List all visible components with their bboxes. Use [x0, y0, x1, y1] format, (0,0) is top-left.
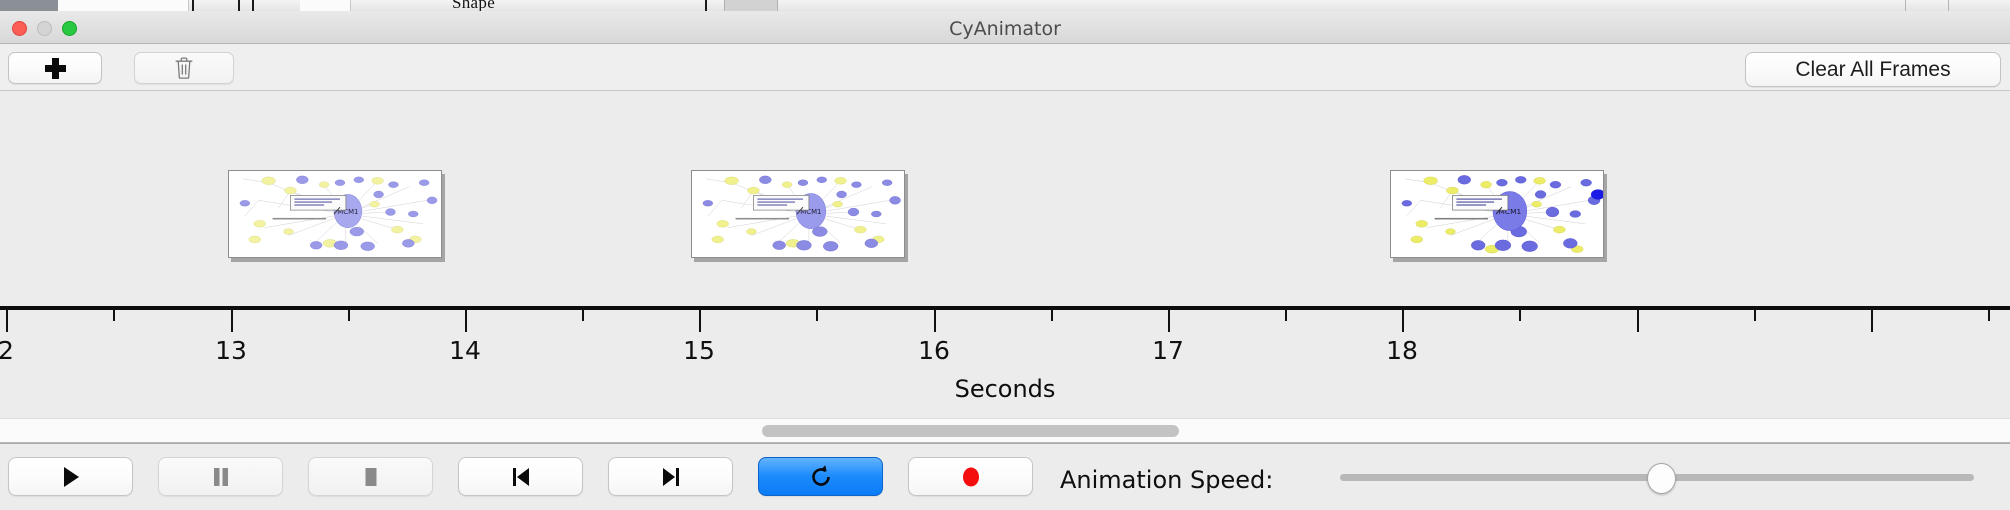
- axis-tick-minor: [1051, 310, 1053, 321]
- animation-speed-label: Animation Speed:: [1060, 466, 1273, 494]
- delete-frame-button[interactable]: [134, 52, 234, 84]
- window-title: CyAnimator: [0, 18, 2010, 40]
- axis-tick-major: [1871, 310, 1873, 332]
- axis-tick-minor: [1754, 310, 1756, 321]
- axis-tick-major: [934, 310, 936, 332]
- axis-tick-label: 16: [918, 336, 950, 365]
- background-window-divider: [192, 0, 194, 11]
- timeline-frame-thumbnail[interactable]: MCM1: [691, 170, 905, 258]
- axis-tick-minor: [816, 310, 818, 321]
- trash-icon: [174, 56, 194, 80]
- background-window-divider: [1905, 0, 1906, 11]
- skip-start-icon: [509, 465, 533, 489]
- axis-tick-label: 13: [215, 336, 247, 365]
- axis-tick-major: [1168, 310, 1170, 332]
- stop-icon: [360, 465, 382, 489]
- axis-tick-minor: [348, 310, 350, 321]
- axis-tick-label: 2: [0, 336, 14, 365]
- axis-title: Seconds: [0, 375, 2010, 403]
- pause-icon: [210, 465, 232, 489]
- timeline-frame-thumbnail[interactable]: MCM1: [228, 170, 442, 258]
- axis-tick-major: [465, 310, 467, 332]
- axis-tick-minor: [582, 310, 584, 321]
- network-graph-preview: MCM1: [229, 171, 441, 257]
- playback-toolbar: Animation Speed:: [0, 443, 2010, 510]
- animation-speed-slider[interactable]: [1340, 474, 1974, 481]
- background-window-divider: [705, 0, 707, 11]
- play-icon: [60, 465, 82, 489]
- timeline-panel[interactable]: MCM1: [0, 91, 2010, 418]
- axis-tick-minor: [1519, 310, 1521, 321]
- axis-tick-minor: [1988, 310, 1990, 321]
- background-window-divider: [1948, 0, 1949, 11]
- plus-icon: [45, 58, 66, 79]
- skip-start-button[interactable]: [458, 457, 583, 496]
- background-window-label: Shape: [452, 0, 495, 11]
- axis-tick-major: [231, 310, 233, 332]
- network-graph-preview: MCM1: [692, 171, 904, 257]
- axis-tick-major: [6, 310, 8, 332]
- loop-icon: [808, 464, 834, 490]
- loop-button[interactable]: [758, 457, 883, 496]
- timeline-axis: 2 13 14 15 16 17 18 Seconds: [0, 306, 2010, 418]
- stop-button[interactable]: [308, 457, 433, 496]
- record-button[interactable]: [908, 457, 1033, 496]
- background-window-divider: [252, 0, 254, 11]
- background-window-segment: [58, 0, 147, 11]
- background-window-selected-tab: [0, 0, 58, 11]
- frame-toolbar: Clear All Frames: [0, 44, 2010, 91]
- axis-tick-minor: [113, 310, 115, 321]
- axis-tick-label: 18: [1386, 336, 1418, 365]
- pause-button[interactable]: [158, 457, 283, 496]
- animation-speed-slider-thumb[interactable]: [1647, 463, 1676, 494]
- axis-tick-minor: [1285, 310, 1287, 321]
- network-graph-preview: MCM1: [1391, 171, 1603, 257]
- axis-tick-major: [1637, 310, 1639, 332]
- background-window-strip: Shape: [0, 0, 2010, 11]
- axis-baseline: [0, 306, 2010, 310]
- timeline-scrollbar-track[interactable]: [0, 418, 2010, 443]
- record-icon: [959, 465, 983, 489]
- title-bar[interactable]: CyAnimator: [0, 11, 2010, 44]
- add-frame-button[interactable]: [8, 52, 102, 84]
- skip-end-icon: [659, 465, 683, 489]
- play-button[interactable]: [8, 457, 133, 496]
- background-window-divider: [238, 0, 240, 11]
- clear-all-frames-button[interactable]: Clear All Frames: [1745, 52, 2001, 87]
- axis-tick-label: 15: [683, 336, 715, 365]
- axis-tick-major: [1402, 310, 1404, 332]
- background-window-segment: [146, 0, 189, 11]
- background-window-segment: [300, 0, 351, 11]
- axis-tick-label: 14: [449, 336, 481, 365]
- axis-tick-major: [699, 310, 701, 332]
- timeline-scrollbar-thumb[interactable]: [762, 425, 1179, 437]
- axis-tick-label: 17: [1152, 336, 1184, 365]
- background-window-box: [724, 0, 778, 11]
- timeline-frame-thumbnail[interactable]: MCM1: [1390, 170, 1604, 258]
- skip-end-button[interactable]: [608, 457, 733, 496]
- cyanimator-window: Shape CyAnimator Clear All Frames: [0, 0, 2010, 510]
